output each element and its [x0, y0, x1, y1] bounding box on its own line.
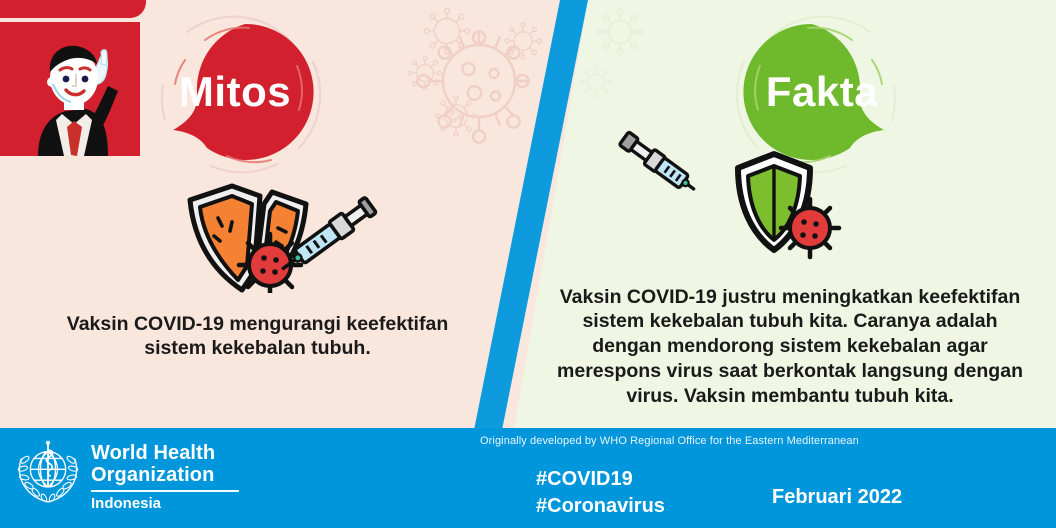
fact-speech-bubble: Fakta: [752, 22, 892, 162]
credit-text: Originally developed by WHO Regional Off…: [480, 435, 859, 447]
who-wordmark: World Health Organization Indonesia: [91, 438, 239, 511]
fact-syringe-icon: [608, 128, 708, 203]
who-country-label: Indonesia: [91, 496, 239, 511]
fact-bubble-label: Fakta: [766, 71, 878, 113]
who-emblem-icon: [14, 438, 82, 506]
myth-bubble-label: Mitos: [179, 71, 291, 113]
hashtag-coronavirus: #Coronavirus: [536, 493, 665, 520]
broken-shield-virus-syringe-icon: [178, 178, 383, 298]
myth-character-frame: [0, 22, 140, 156]
man-pointing-up-illustration: [0, 22, 140, 156]
fact-body-text: Vaksin COVID-19 justru meningkatkan keef…: [555, 285, 1025, 410]
who-name-line1: World Health: [91, 443, 239, 465]
intact-shield-virus-icon: [722, 148, 842, 265]
who-logo: World Health Organization Indonesia: [14, 438, 239, 511]
myth-speech-bubble: Mitos: [165, 22, 305, 162]
hashtags: #COVID19 #Coronavirus: [536, 466, 665, 520]
footer-bar: World Health Organization Indonesia Orig…: [0, 428, 1056, 528]
myth-panel-tab: [0, 0, 146, 18]
covid-myth-fact-infographic: Mitos: [0, 0, 1056, 528]
who-divider-rule: [91, 490, 239, 492]
publish-date: Februari 2022: [772, 486, 902, 509]
myth-body-text: Vaksin COVID-19 mengurangi keefektifan s…: [60, 312, 455, 362]
hashtag-covid19: #COVID19: [536, 466, 665, 493]
who-name-line2: Organization: [91, 465, 239, 487]
